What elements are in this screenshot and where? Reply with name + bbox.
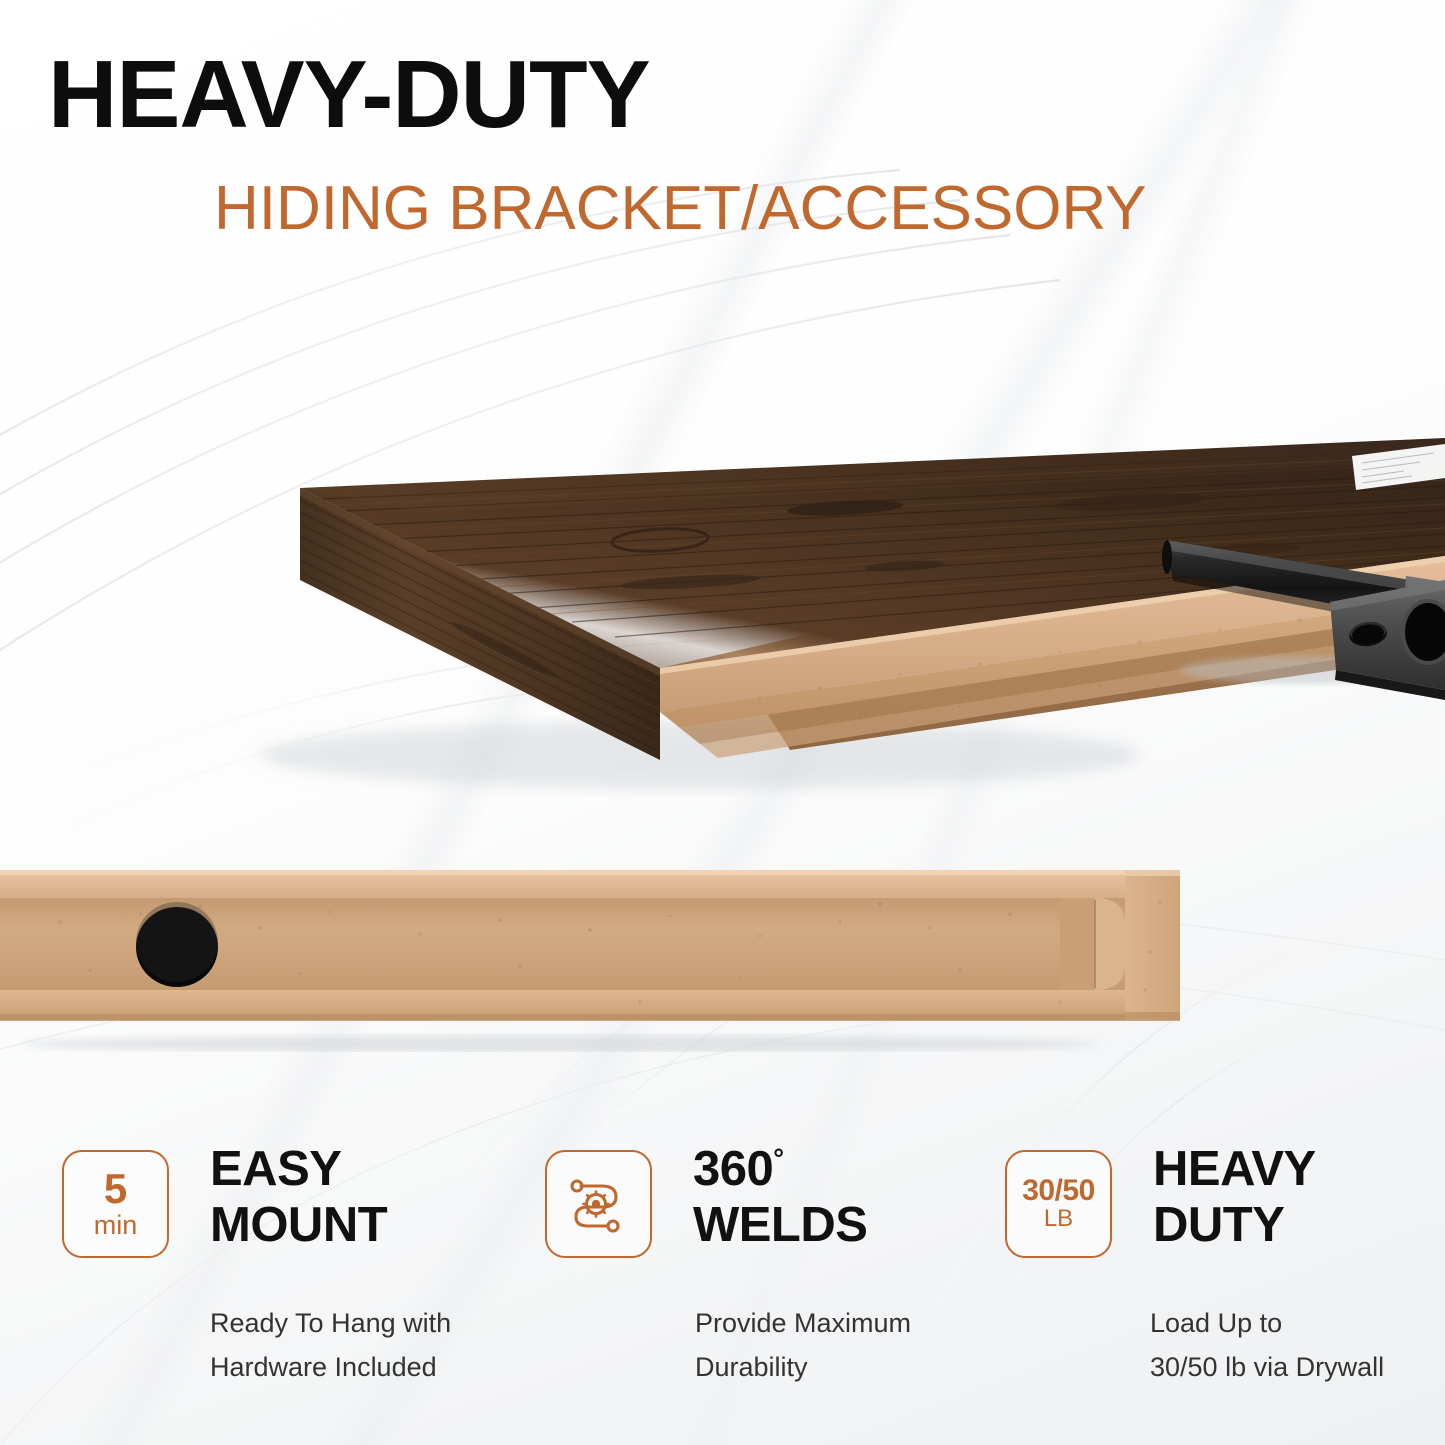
timer-badge: 5 min [62,1150,169,1258]
feature-title: 360° WELDS [693,1142,867,1254]
weld-path-gear-badge [545,1150,652,1258]
badge-unit: LB [1044,1206,1073,1232]
weight-capacity-badge: 30/50 LB [1005,1150,1112,1258]
feature-title: HEAVY DUTY [1153,1142,1316,1254]
feature-title-line2: DUTY [1153,1198,1284,1252]
feature-title: EASY MOUNT [210,1142,387,1254]
badge-value: 30/50 [1022,1176,1095,1207]
weld-path-gear-icon [568,1175,630,1233]
feature-title-line1: EASY [210,1142,341,1196]
badge-value: 5 [104,1168,127,1211]
feature-desc-line2: Hardware Included [210,1352,437,1382]
feature-desc-line1: Provide Maximum [695,1308,911,1338]
product-photo-channel-cross-section [0,862,1235,1052]
feature-list: 5 min EASY MOUNT Ready To Hang with Hard… [0,1140,1445,1440]
page-title: HEAVY-DUTY [48,47,650,143]
feature-desc-line1: Ready To Hang with [210,1308,451,1338]
feature-desc-line2: Durability [695,1352,808,1382]
product-photo-shelf-with-bracket [0,250,1445,810]
feature-description: Ready To Hang with Hardware Included [210,1302,451,1389]
degree-symbol: ° [773,1144,783,1174]
feature-desc-line1: Load Up to [1150,1308,1282,1338]
feature-title-line1: HEAVY [1153,1142,1316,1196]
feature-title-line2: WELDS [693,1198,867,1252]
feature-description: Provide Maximum Durability [695,1302,911,1389]
feature-description: Load Up to 30/50 lb via Drywall [1150,1302,1384,1389]
feature-title-line1: 360 [693,1142,773,1196]
feature-desc-line2: 30/50 lb via Drywall [1150,1352,1384,1382]
product-marketing-image: HEAVY-DUTY HIDING BRACKET/ACCESSORY [0,0,1445,1445]
badge-unit: min [94,1211,138,1241]
feature-title-line2: MOUNT [210,1198,387,1252]
page-subtitle: HIDING BRACKET/ACCESSORY [214,178,1146,240]
